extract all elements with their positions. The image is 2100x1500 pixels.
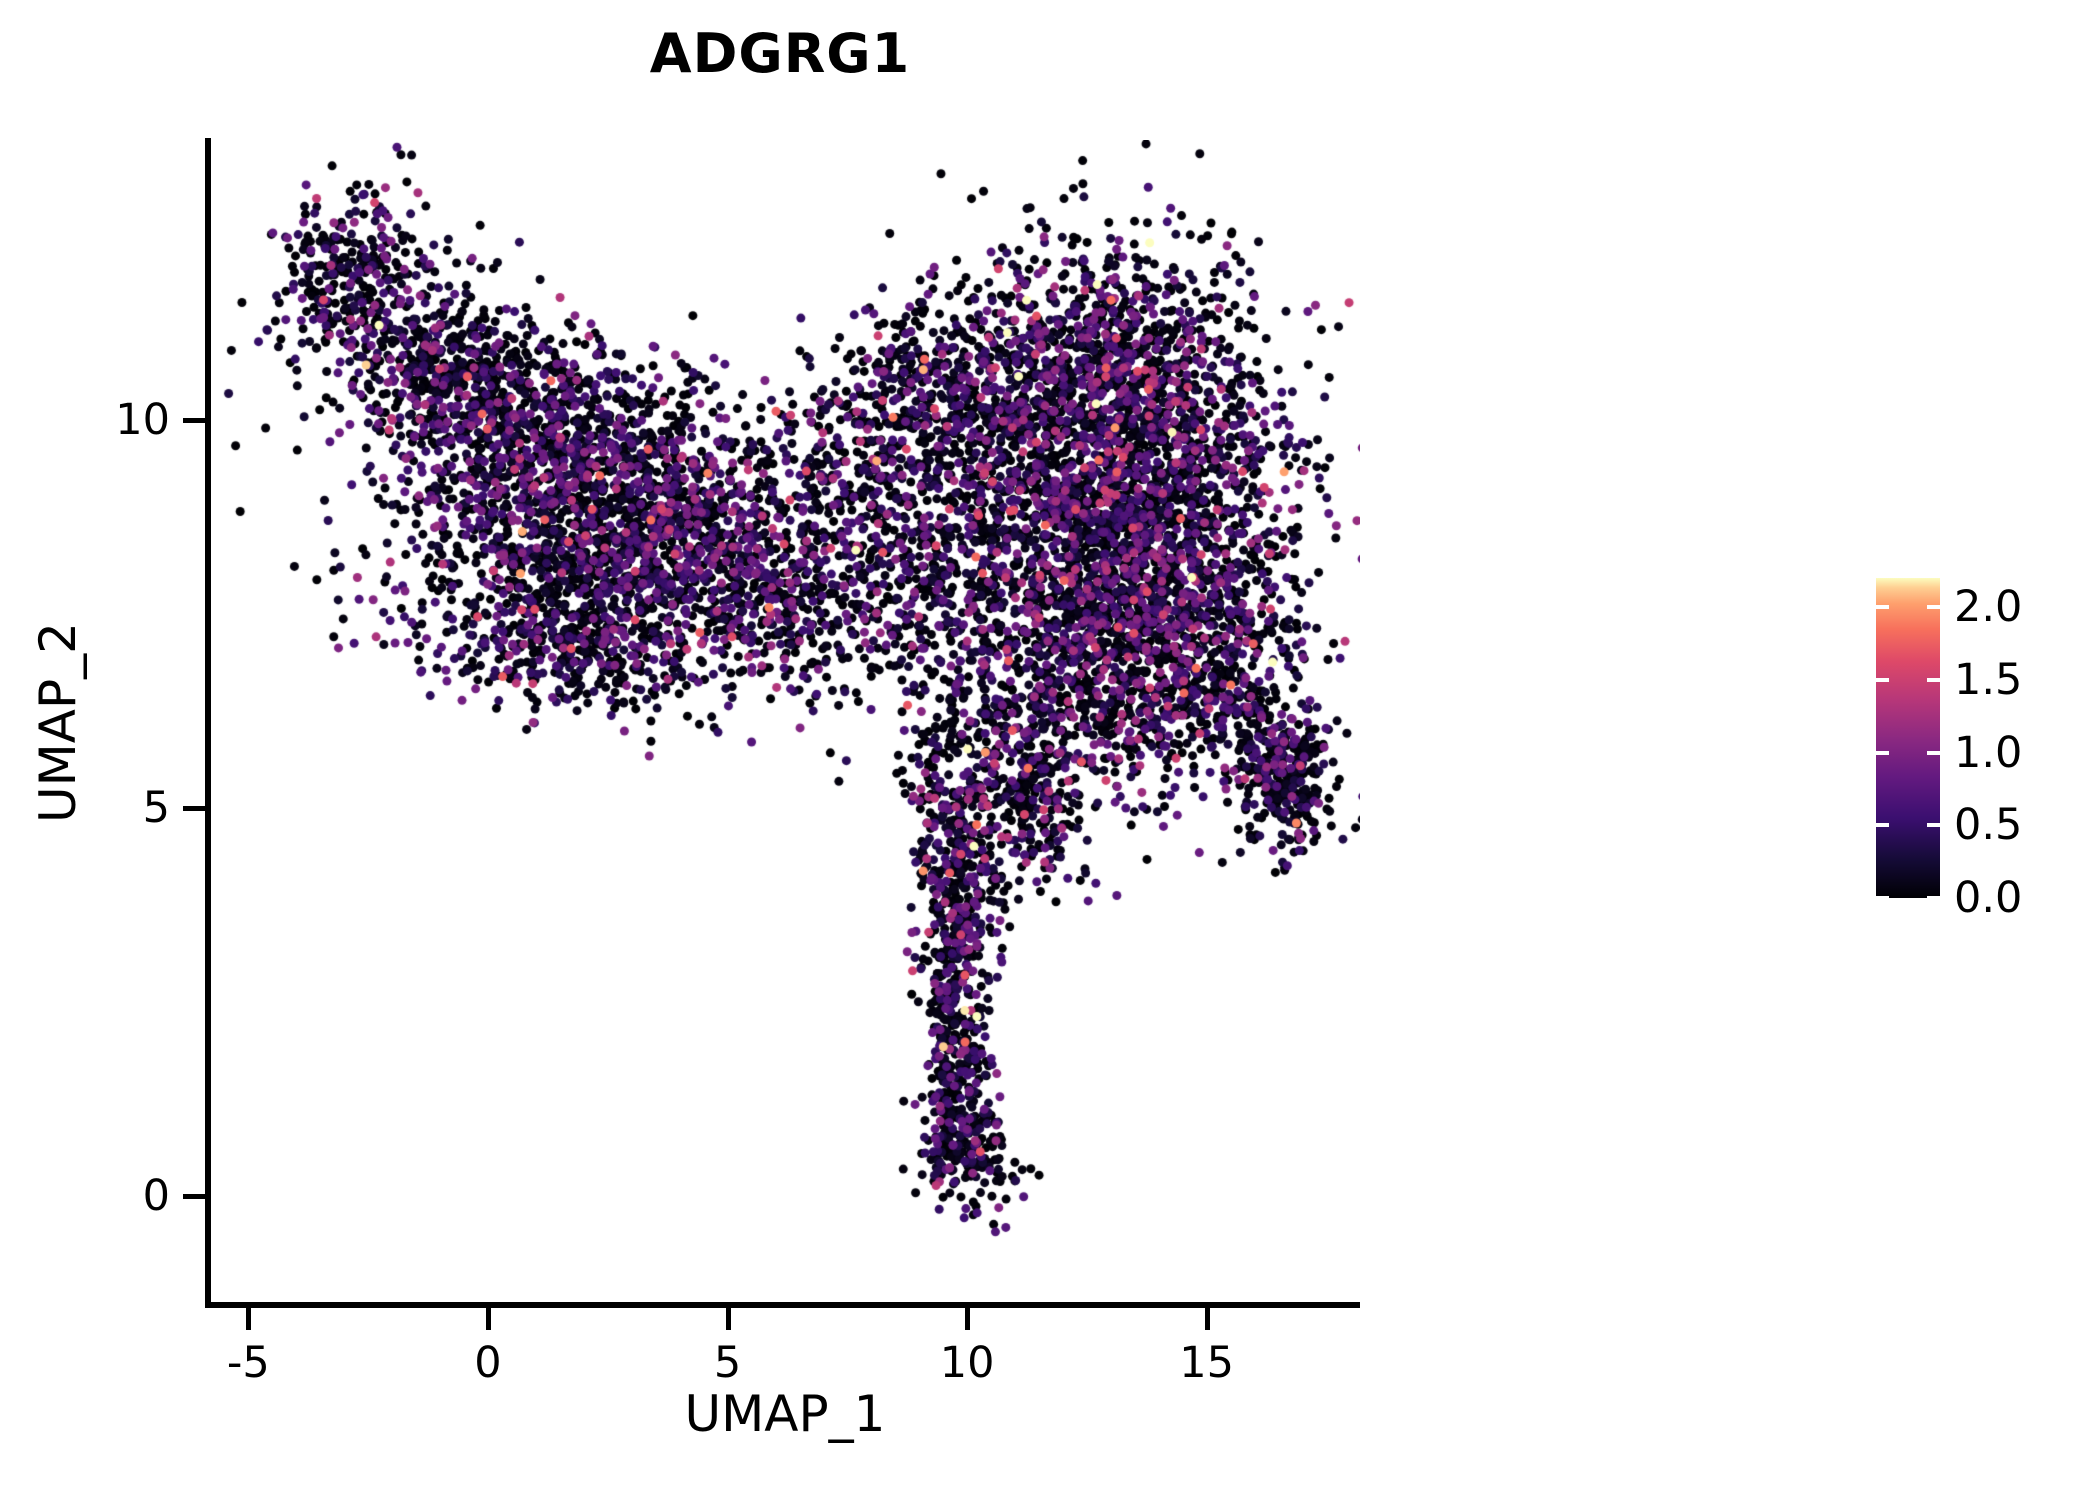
colorbar-tick-mark — [1927, 605, 1940, 609]
page-title: ADGRG1 — [0, 22, 1560, 85]
colorbar-tick-label: 0.0 — [1954, 873, 2022, 923]
x-tick-mark — [1205, 1306, 1210, 1330]
x-tick-mark — [486, 1306, 491, 1330]
x-tick-label: -5 — [227, 1338, 270, 1388]
colorbar-tick-mark — [1876, 823, 1889, 827]
umap-feature-plot-figure: ADGRG1 0510-5051015 UMAP_1 UMAP_2 0.00.5… — [0, 0, 2100, 1500]
colorbar-tick-mark — [1927, 823, 1940, 827]
colorbar: 0.00.51.01.52.0 — [1876, 578, 1940, 898]
colorbar-tick-mark — [1876, 751, 1889, 755]
colorbar-tick-mark — [1876, 896, 1889, 900]
colorbar-tick-mark — [1927, 896, 1940, 900]
x-tick-label: 10 — [940, 1338, 995, 1388]
colorbar-tick-label: 0.5 — [1954, 800, 2022, 850]
x-axis-label: UMAP_1 — [210, 1385, 1360, 1443]
y-tick-mark — [183, 418, 207, 423]
x-axis-spine — [205, 1302, 1360, 1308]
x-tick-label: 15 — [1179, 1338, 1234, 1388]
x-tick-mark — [965, 1306, 970, 1330]
colorbar-gradient — [1876, 578, 1940, 898]
x-tick-mark — [246, 1306, 251, 1330]
x-tick-mark — [726, 1306, 731, 1330]
y-axis-label: UMAP_2 — [26, 140, 90, 1305]
colorbar-tick-label: 1.0 — [1954, 728, 2022, 778]
scatter-plot-area — [210, 140, 1360, 1305]
umap-scatter-canvas — [210, 140, 1360, 1305]
colorbar-tick-mark — [1927, 678, 1940, 682]
x-tick-label: 5 — [714, 1338, 741, 1388]
y-tick-mark — [183, 1194, 207, 1199]
colorbar-tick-mark — [1876, 678, 1889, 682]
colorbar-tick-label: 2.0 — [1954, 582, 2022, 632]
colorbar-tick-mark — [1927, 751, 1940, 755]
y-tick-mark — [183, 806, 207, 811]
colorbar-tick-mark — [1876, 605, 1889, 609]
y-axis-spine — [205, 138, 211, 1308]
colorbar-tick-label: 1.5 — [1954, 655, 2022, 705]
x-tick-label: 0 — [474, 1338, 501, 1388]
